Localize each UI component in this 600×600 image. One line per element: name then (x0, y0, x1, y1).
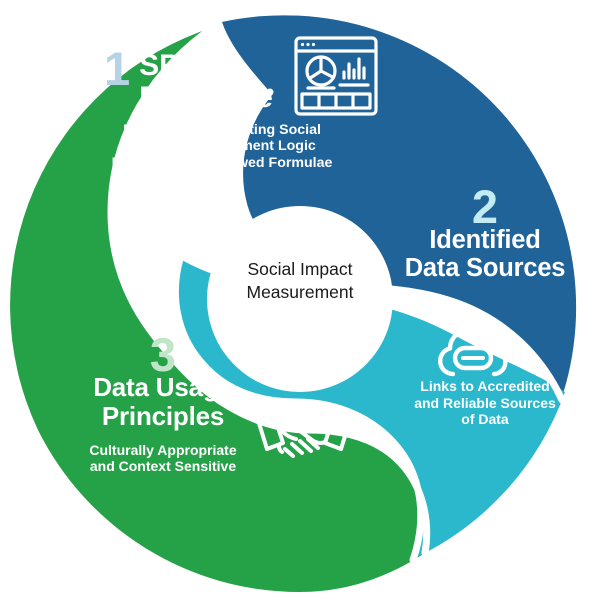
segment-1-subtitle-line2: Return on Investment Logic (128, 138, 316, 154)
segment-3-subtitle-line2: and Context Sensitive (90, 458, 236, 474)
segment-1-title-line1: SROI (139, 49, 212, 82)
center-label-line2: Measurement (247, 282, 354, 302)
segment-3-title-line1: Data Usage (93, 372, 233, 402)
segment-3-title-line2: Principles (102, 401, 224, 431)
segment-2-number: 2 (472, 186, 498, 228)
segment-3-subtitle-line1: Culturally Appropriate (89, 442, 236, 458)
segment-1-title: SROI Formulae (139, 48, 272, 113)
segment-2-subtitle-line2: and Reliable Sources (414, 395, 556, 411)
segment-1-number: 1 (104, 48, 130, 90)
segment-1-subtitle-line3: Models, Peer-reviewed Formulae (112, 155, 333, 171)
segment-1-subtitle-line1: Models for Calculating Social (123, 122, 321, 138)
segment-3-number: 3 (150, 334, 176, 376)
segment-3-text: 3 Data Usage Principles Culturally Appro… (48, 334, 278, 474)
segment-1-heading: 1 SROI Formulae (104, 48, 354, 113)
segment-2-subtitle-line1: Links to Accredited (420, 378, 549, 394)
segment-3-subtitle: Culturally Appropriate and Context Sensi… (48, 442, 278, 474)
center-label: Social Impact Measurement (212, 258, 388, 304)
segment-2-title-line1: Identified (429, 226, 540, 254)
segment-1-subtitle: Models for Calculating Social Return on … (104, 122, 340, 171)
segment-1-text: 1 SROI Formulae Models for Calculating S… (104, 48, 354, 171)
segment-1-title-line2: Formulae (139, 81, 272, 114)
segment-2-title: Identified Data Sources (385, 226, 585, 282)
social-impact-measurement-infographic: 1 SROI Formulae Models for Calculating S… (0, 0, 600, 600)
segment-2-subtitle: Links to Accredited and Reliable Sources… (385, 378, 585, 427)
center-label-line1: Social Impact (247, 259, 352, 279)
segment-2-text: 2 Identified Data Sources Links to Accre… (385, 186, 585, 427)
segment-2-title-line2: Data Sources (405, 254, 566, 282)
segment-2-subtitle-line3: of Data (461, 411, 508, 427)
segment-3-title: Data Usage Principles (48, 373, 278, 431)
